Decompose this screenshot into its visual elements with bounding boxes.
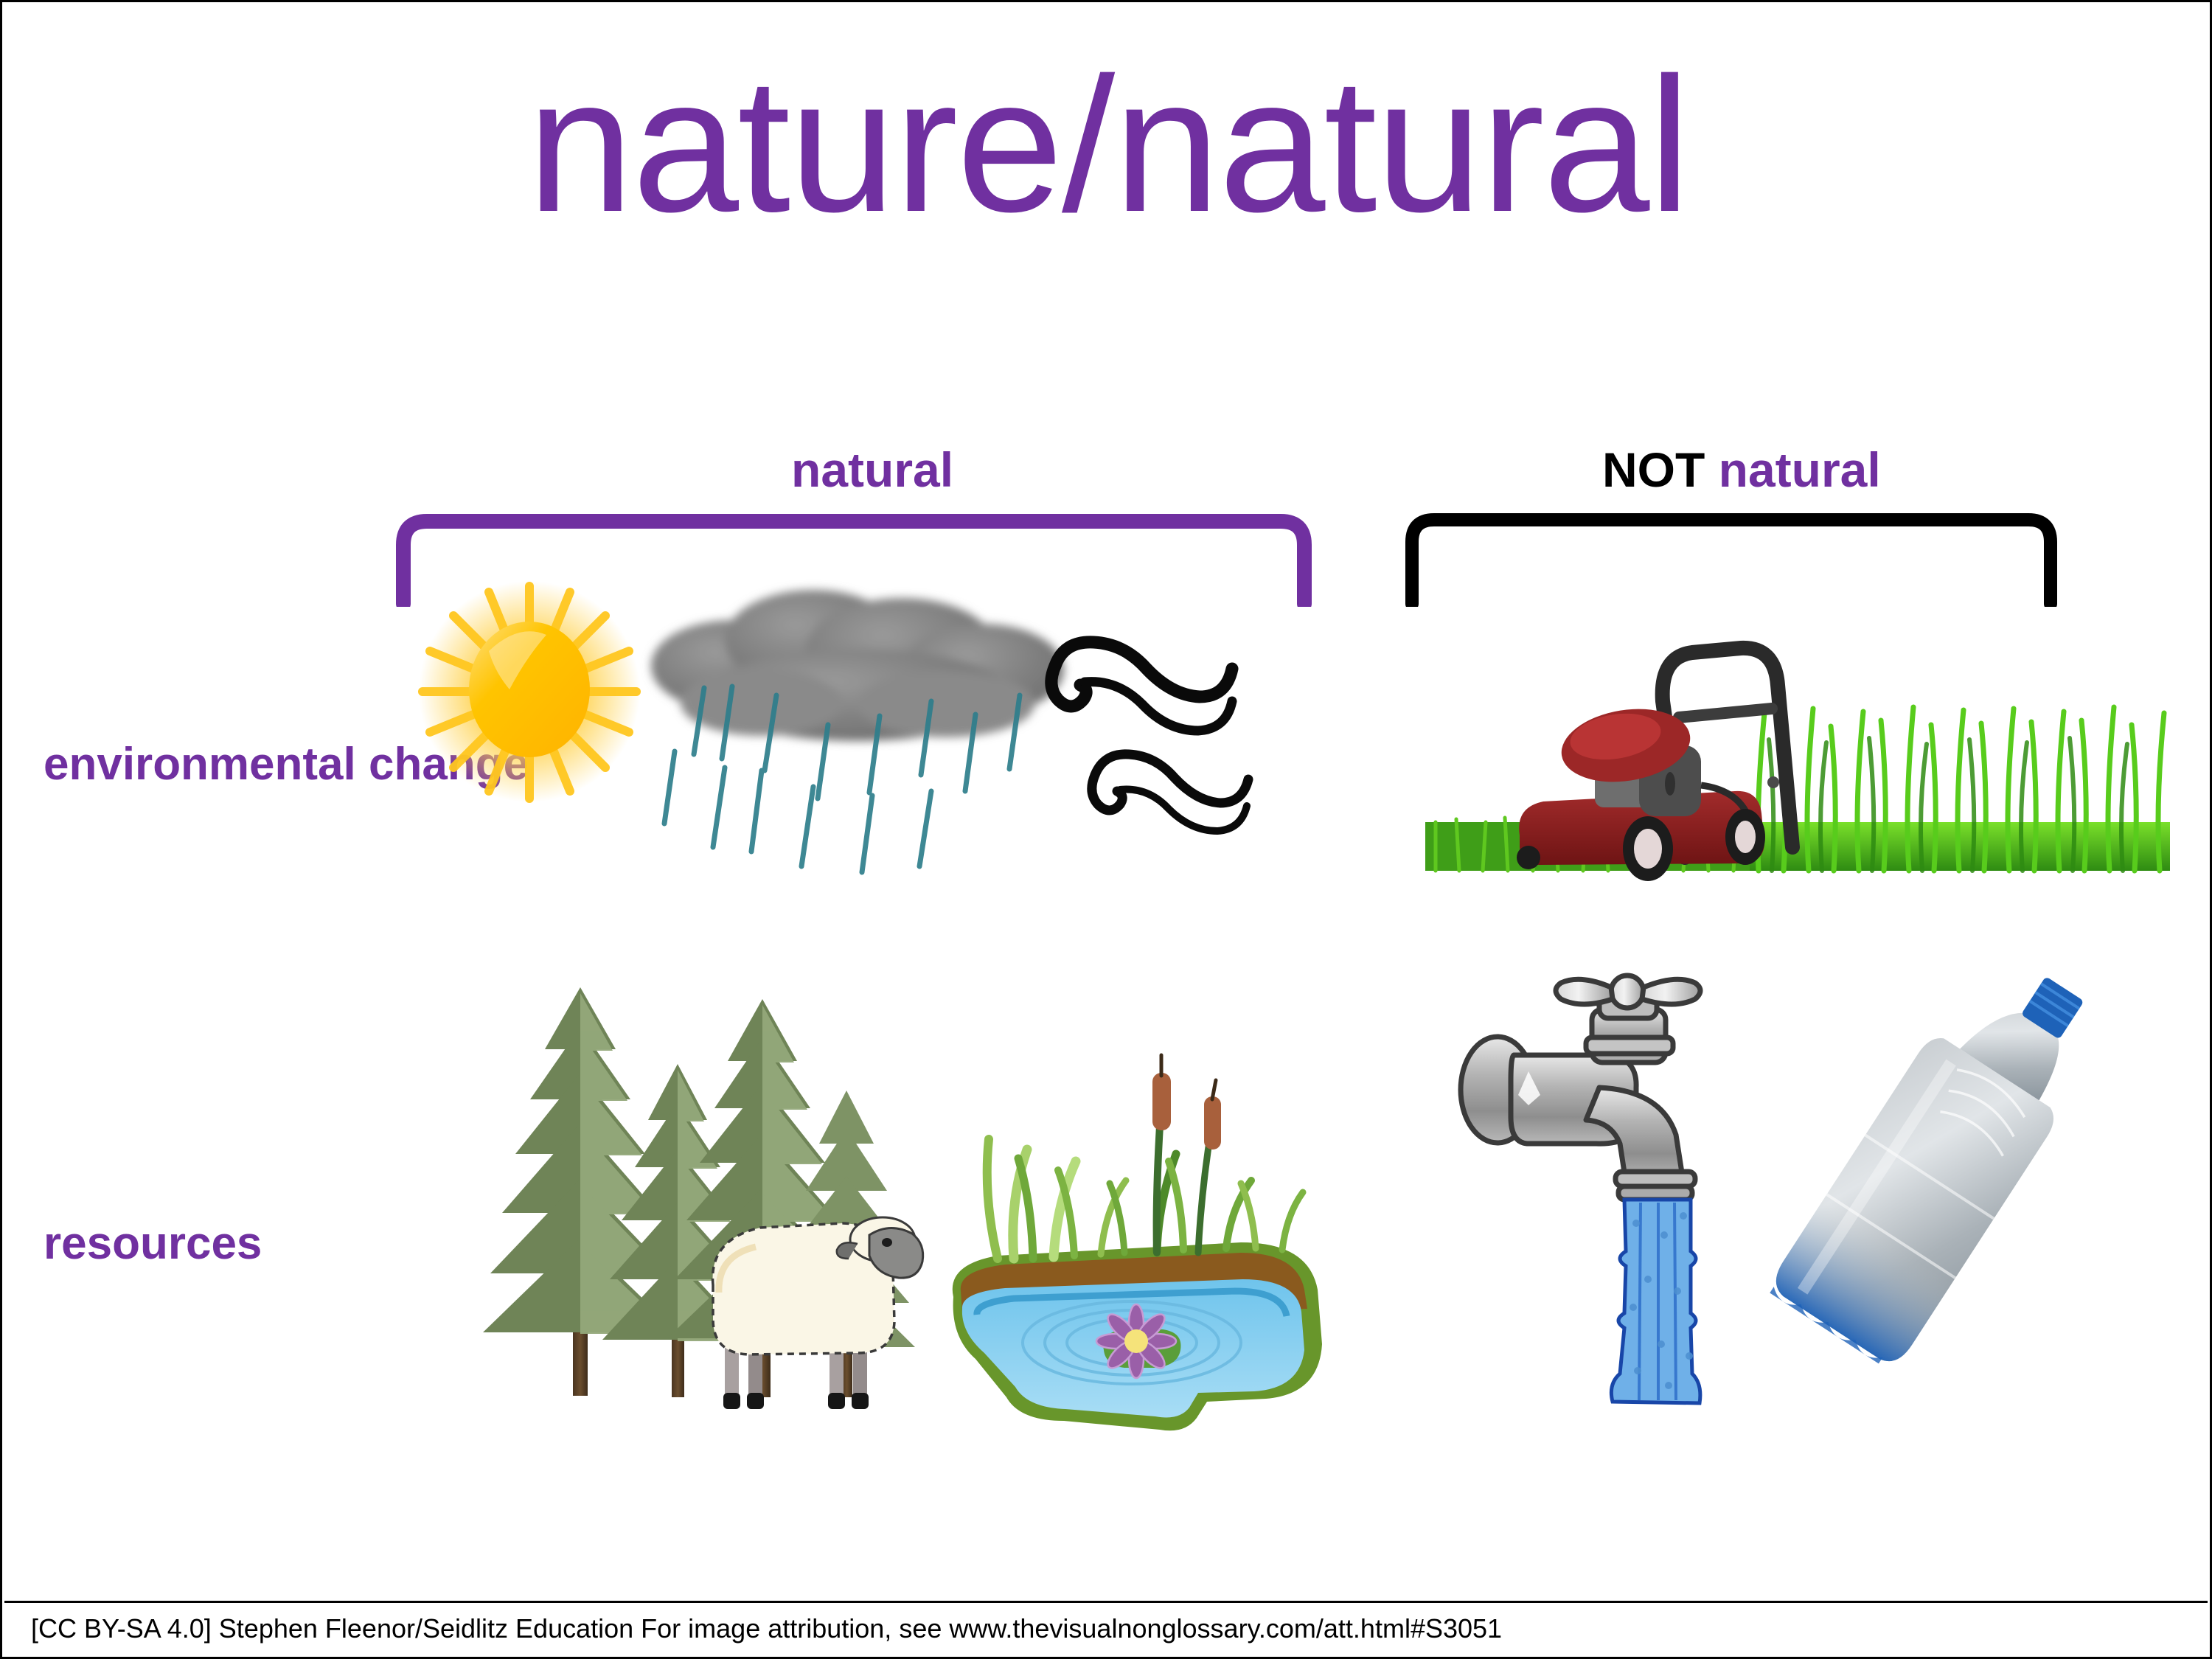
column-header-natural: natural xyxy=(791,442,953,498)
water-stream-illustration xyxy=(1611,1200,1700,1403)
column-header-not-natural: NOT natural xyxy=(1602,442,1881,498)
cell-resources-not-natural xyxy=(1440,961,2177,1447)
plastic-bottle-illustration xyxy=(1765,961,2121,1373)
lawn-mower-illustration xyxy=(1425,648,2170,881)
sheep-illustration xyxy=(713,1217,923,1409)
footer-bar: [CC BY-SA 4.0] Stephen Fleenor/Seidlitz … xyxy=(4,1601,2208,1655)
column-header-not-natural-label: natural xyxy=(1719,442,1881,497)
pond-illustration xyxy=(953,1055,1322,1430)
water-lily-illustration xyxy=(1096,1304,1176,1378)
row-label-resources-text: resources xyxy=(44,1218,262,1269)
wind-swirl-illustration xyxy=(1051,642,1248,831)
page-title: nature/natural xyxy=(2,45,2212,246)
row-label-resources: resources xyxy=(44,1160,262,1271)
column-header-natural-label: natural xyxy=(791,442,953,497)
footer-attribution-text: [CC BY-SA 4.0] Stephen Fleenor/Seidlitz … xyxy=(31,1613,1502,1644)
bracket-not-natural xyxy=(1403,511,2059,607)
column-header-not-prefix: NOT xyxy=(1602,442,1719,497)
sun-illustration xyxy=(419,581,640,802)
cell-environmental-change-not-natural xyxy=(1425,614,2170,894)
rain-cloud-illustration xyxy=(651,590,1064,741)
cell-environmental-change-natural xyxy=(415,577,1344,931)
poster-canvas: nature/natural natural NOT natural envir… xyxy=(0,0,2212,1659)
faucet-illustration xyxy=(1461,975,1700,1200)
cell-resources-natural xyxy=(415,946,1359,1447)
